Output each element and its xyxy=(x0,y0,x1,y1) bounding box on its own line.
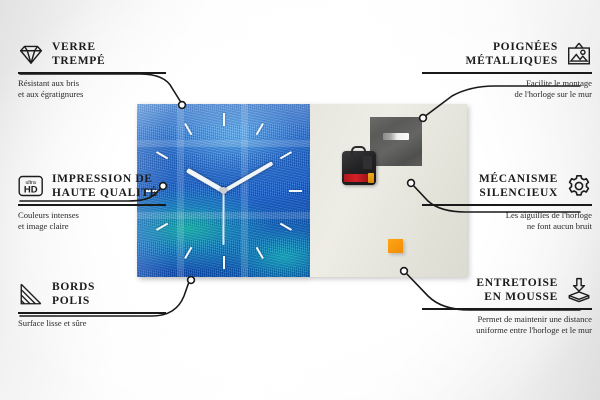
hour-marker xyxy=(223,256,225,269)
feature-header: POIGNÉES MÉTALLIQUES xyxy=(422,40,592,68)
clock-movement-mechanism xyxy=(342,151,376,185)
feature-divider xyxy=(18,204,166,206)
feature-divider xyxy=(422,204,592,206)
feature-foam-spacer: ENTRETOISE EN MOUSSE Permet de maintenir… xyxy=(422,276,592,336)
connector-endpoint-polished-edges xyxy=(188,277,195,284)
picture-frame-hanger-icon xyxy=(566,41,592,67)
svg-text:HD: HD xyxy=(24,185,38,196)
feature-header: VERRE TREMPÉ xyxy=(18,40,166,68)
product-image xyxy=(137,104,467,277)
feature-header: ENTRETOISE EN MOUSSE xyxy=(422,276,592,304)
feature-divider xyxy=(18,312,166,314)
feature-metal-handles: POIGNÉES MÉTALLIQUES Facilite le montage… xyxy=(422,40,592,100)
feature-quiet-movement: MÉCANISME SILENCIEUX Les aiguilles de l'… xyxy=(422,172,592,232)
metal-hanger-plate xyxy=(370,117,422,166)
foam-spacer-pad xyxy=(388,239,403,253)
clock-second-hand xyxy=(223,191,225,245)
feature-description: Couleurs intenses et image claire xyxy=(18,210,166,232)
feature-divider xyxy=(18,72,166,74)
hour-marker xyxy=(289,190,302,192)
feature-hd-print: ultra HD IMPRESSION DE HAUTE QUALITÉ Cou… xyxy=(18,172,166,232)
feature-title: ENTRETOISE EN MOUSSE xyxy=(476,276,558,304)
clock-hand-cap xyxy=(220,187,227,194)
battery xyxy=(344,174,371,182)
feature-header: ultra HD IMPRESSION DE HAUTE QUALITÉ xyxy=(18,172,166,200)
feature-divider xyxy=(422,308,592,310)
feature-description: Résistant aux bris et aux égratignures xyxy=(18,78,166,100)
feature-divider xyxy=(422,72,592,74)
feature-header: MÉCANISME SILENCIEUX xyxy=(422,172,592,200)
mechanism-hook xyxy=(351,146,366,155)
polished-edge-icon xyxy=(18,281,44,307)
product-feature-infographic: VERRE TREMPÉ Résistant aux bris et aux é… xyxy=(0,0,600,400)
gear-icon xyxy=(566,173,592,199)
feature-title: VERRE TREMPÉ xyxy=(52,40,105,68)
ultra-hd-icon: ultra HD xyxy=(18,173,44,199)
feature-description: Les aiguilles de l'horloge ne font aucun… xyxy=(422,210,592,232)
mechanism-detail xyxy=(363,156,372,169)
feature-header: BORDS POLIS xyxy=(18,280,166,308)
diamond-icon xyxy=(18,41,44,67)
feature-title: POIGNÉES MÉTALLIQUES xyxy=(466,40,558,68)
battery-terminal xyxy=(368,173,374,183)
feature-title: IMPRESSION DE HAUTE QUALITÉ xyxy=(52,172,158,200)
feature-description: Surface lisse et sûre xyxy=(18,318,166,329)
feature-title: MÉCANISME SILENCIEUX xyxy=(479,172,558,200)
feature-polished-edges: BORDS POLIS Surface lisse et sûre xyxy=(18,280,166,329)
hanger-slot xyxy=(383,133,409,140)
feature-description: Permet de maintenir une distance uniform… xyxy=(422,314,592,336)
feature-tempered-glass: VERRE TREMPÉ Résistant aux bris et aux é… xyxy=(18,40,166,100)
hour-marker xyxy=(223,113,225,126)
feature-title: BORDS POLIS xyxy=(52,280,95,308)
feature-description: Facilite le montage de l'horloge sur le … xyxy=(422,78,592,100)
foam-spacer-arrow-icon xyxy=(566,277,592,303)
